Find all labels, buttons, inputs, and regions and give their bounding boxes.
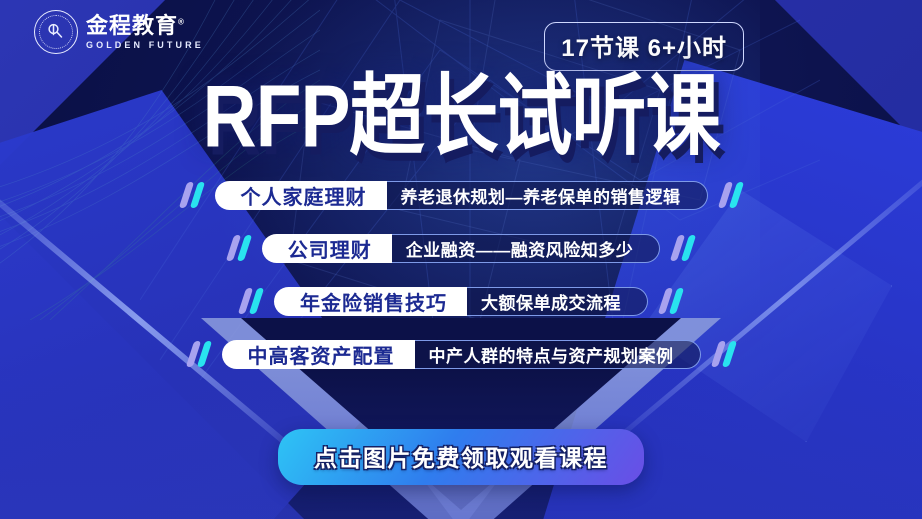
promo-banner: 金程教育® GOLDEN FUTURE 17节课 6+小时 RFP超长试听课 个… xyxy=(0,0,922,519)
double-slash-icon xyxy=(710,341,736,367)
course-list: 个人家庭理财 养老退休规划—养老保单的销售逻辑 公司理财 企业融资——融资风险知… xyxy=(0,176,922,388)
brand-name-en: GOLDEN FUTURE xyxy=(86,41,204,50)
cta-button[interactable]: 点击图片免费领取观看课程 xyxy=(278,429,644,485)
course-row[interactable]: 中高客资产配置 中产人群的特点与资产规划案例 xyxy=(0,335,922,373)
course-topic: 大额保单成交流程 xyxy=(467,287,648,316)
double-slash-icon xyxy=(717,182,743,208)
course-category: 公司理财 xyxy=(262,234,392,263)
double-slash-icon xyxy=(670,235,696,261)
brand-name-cn-text: 金程教育 xyxy=(86,13,178,38)
course-category: 个人家庭理财 xyxy=(215,181,387,210)
course-category: 年金险销售技巧 xyxy=(274,287,467,316)
course-category: 中高客资产配置 xyxy=(222,340,415,369)
double-slash-icon xyxy=(226,235,252,261)
golden-future-seal-icon xyxy=(34,10,78,54)
course-pill[interactable]: 年金险销售技巧 大额保单成交流程 xyxy=(274,287,648,316)
page-title: RFP超长试听课 xyxy=(0,72,922,161)
course-count-badge: 17节课 6+小时 xyxy=(544,22,744,71)
course-row[interactable]: 个人家庭理财 养老退休规划—养老保单的销售逻辑 xyxy=(0,176,922,214)
registered-mark: ® xyxy=(178,17,185,26)
brand-logo: 金程教育® GOLDEN FUTURE xyxy=(34,10,204,54)
course-topic: 中产人群的特点与资产规划案例 xyxy=(415,340,701,369)
course-row[interactable]: 公司理财 企业融资——融资风险知多少 xyxy=(0,229,922,267)
double-slash-icon xyxy=(178,182,204,208)
double-slash-icon xyxy=(238,288,264,314)
course-pill[interactable]: 公司理财 企业融资——融资风险知多少 xyxy=(262,234,661,263)
course-topic: 养老退休规划—养老保单的销售逻辑 xyxy=(387,181,708,210)
brand-name-cn: 金程教育® xyxy=(86,15,204,37)
course-topic: 企业融资——融资风险知多少 xyxy=(392,234,661,263)
course-pill[interactable]: 中高客资产配置 中产人群的特点与资产规划案例 xyxy=(222,340,701,369)
course-row[interactable]: 年金险销售技巧 大额保单成交流程 xyxy=(0,282,922,320)
double-slash-icon xyxy=(185,341,211,367)
double-slash-icon xyxy=(658,288,684,314)
course-pill[interactable]: 个人家庭理财 养老退休规划—养老保单的销售逻辑 xyxy=(215,181,708,210)
